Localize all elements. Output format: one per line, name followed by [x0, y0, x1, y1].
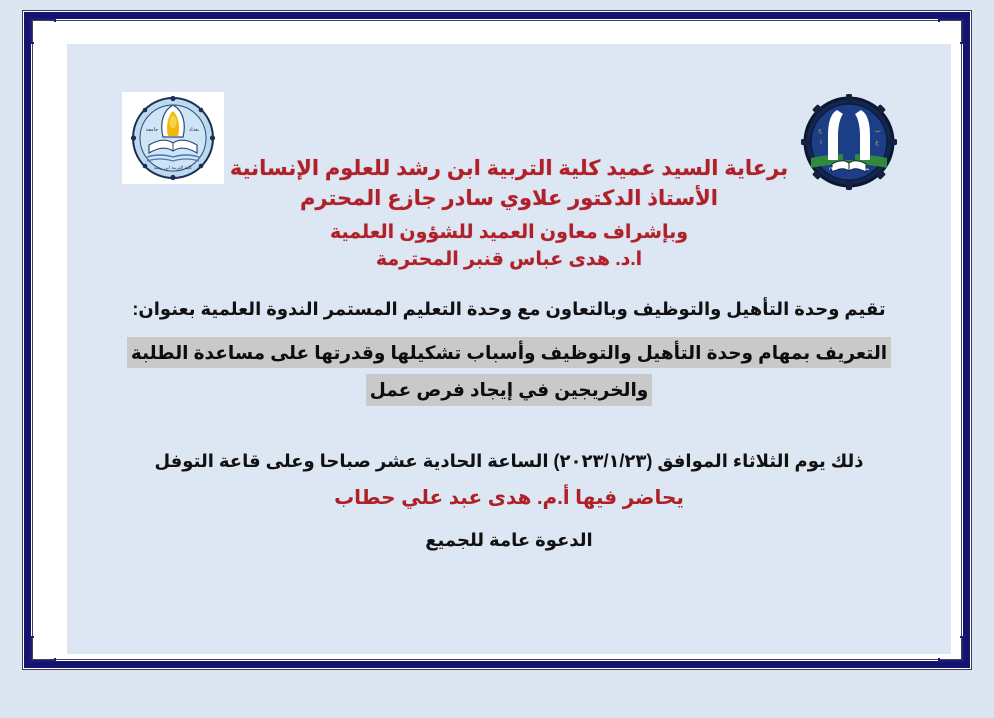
svg-text:ج: ج: [818, 127, 822, 134]
supervision-line: وبإشراف معاون العميد للشؤون العلمية: [67, 220, 951, 247]
svg-text:ب: ب: [875, 127, 881, 134]
svg-text:جامعة: جامعة: [146, 127, 158, 133]
svg-text:بغداد: بغداد: [189, 127, 199, 133]
poster-white-margin: كلية التربية ابن رشد جامعة بغداد: [34, 22, 960, 658]
poster-content-panel: كلية التربية ابن رشد جامعة بغداد: [67, 44, 951, 654]
seminar-title-highlight-block: التعريف بمهام وحدة التأهيل والتوظيف وأسب…: [67, 337, 951, 407]
supervisor-name: ا.د. هدى عباس قنبر المحترمة: [67, 247, 951, 274]
seminar-intro-line: تقيم وحدة التأهيل والتوظيف وبالتعاون مع …: [67, 296, 951, 323]
open-invitation-line: الدعوة عامة للجميع: [67, 530, 951, 551]
patronage-line-1: برعاية السيد عميد كلية التربية ابن رشد ل…: [67, 154, 951, 184]
svg-text:غ: غ: [875, 139, 879, 146]
seminar-schedule-line: ذلك يوم الثلاثاء الموافق (٢٠٢٣/١/٢٣) الس…: [67, 448, 951, 475]
patronage-line-2-dean-name: الأستاذ الدكتور علاوي سادر جازع المحترم: [67, 184, 951, 214]
seminar-title-line-2: والخريجين في إيجاد فرص عمل: [366, 374, 653, 406]
poster-sheet: كلية التربية ابن رشد جامعة بغداد: [22, 10, 972, 670]
seminar-title-line-1: التعريف بمهام وحدة التأهيل والتوظيف وأسب…: [127, 337, 891, 369]
seminar-lecturer-line: يحاضر فيها أ.م. هدى عبد علي حطاب: [67, 485, 951, 510]
poster-text-stack: برعاية السيد عميد كلية التربية ابن رشد ل…: [67, 154, 951, 569]
